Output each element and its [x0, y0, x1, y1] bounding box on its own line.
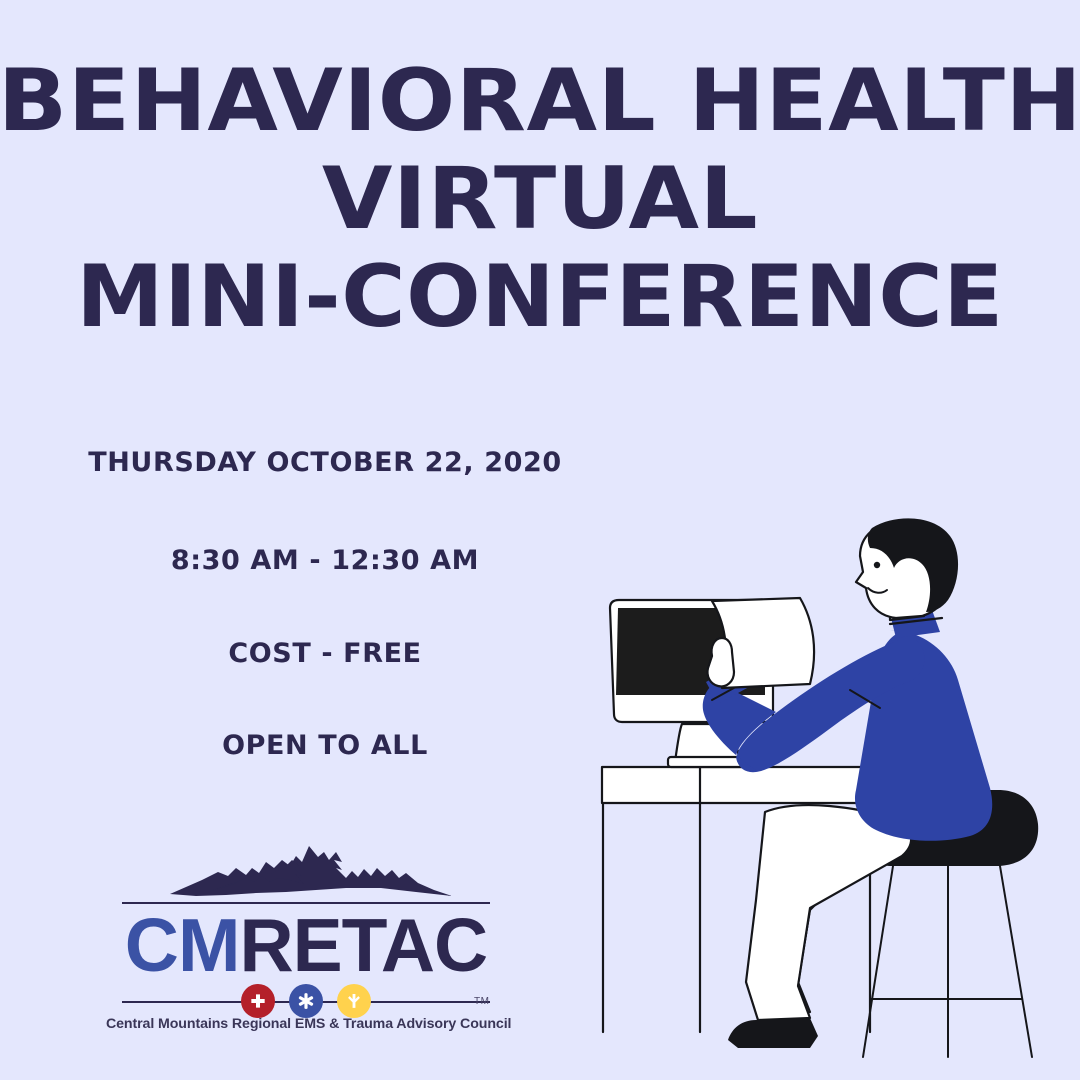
logo-wordmark: CMRETAC — [106, 908, 506, 983]
title-line-1: BEHAVIORAL HEALTH — [0, 58, 1080, 144]
person-at-computer-illustration — [560, 512, 1080, 1080]
event-cost: COST - FREE — [60, 636, 590, 672]
event-details: THURSDAY OCTOBER 22, 2020 8:30 AM - 12:3… — [60, 445, 590, 765]
logo-badge-row — [241, 983, 371, 1019]
mountain-range-icon — [166, 838, 456, 898]
event-date: THURSDAY OCTOBER 22, 2020 — [60, 445, 590, 481]
rescue-trident-icon — [337, 984, 371, 1018]
title-line-2: VIRTUAL — [0, 156, 1080, 242]
logo-wordmark-cm: CM — [125, 903, 240, 987]
logo-tagline: Central Mountains Regional EMS & Trauma … — [106, 1016, 506, 1032]
event-audience: OPEN TO ALL — [60, 728, 590, 764]
logo-wordmark-retac: RETAC — [239, 903, 487, 987]
trademark-mark: TM — [474, 996, 489, 1007]
poster-canvas: BEHAVIORAL HEALTH VIRTUAL MINI-CONFERENC… — [0, 0, 1080, 1080]
medical-cross-icon — [241, 984, 275, 1018]
cmretac-logo: CMRETAC — [106, 838, 506, 1053]
event-time: 8:30 AM - 12:30 AM — [60, 543, 590, 579]
title-line-3: MINI-CONFERENCE — [0, 254, 1080, 340]
poster-title: BEHAVIORAL HEALTH VIRTUAL MINI-CONFERENC… — [0, 58, 1080, 340]
star-of-life-icon — [289, 984, 323, 1018]
